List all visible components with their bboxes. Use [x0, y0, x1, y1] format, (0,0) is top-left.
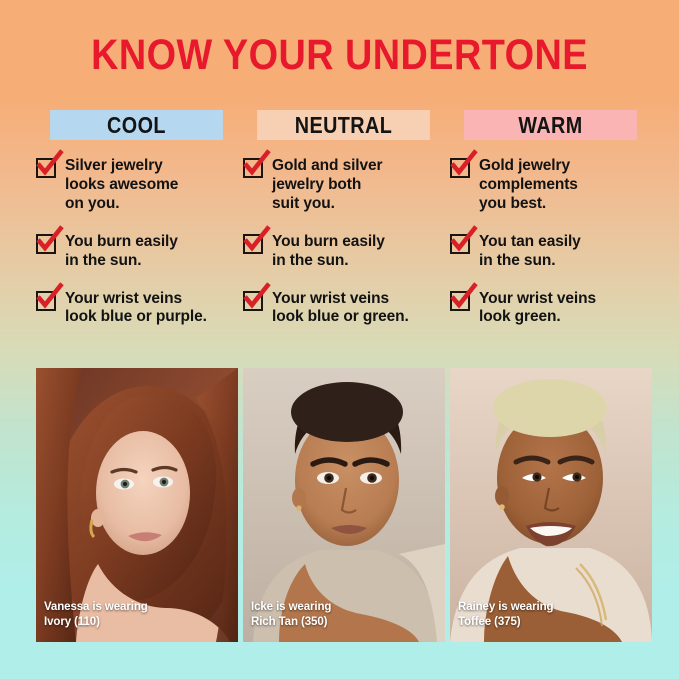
- undertone-infographic: KNOW YOUR UNDERTONE COOL Silver jewelry …: [0, 0, 679, 679]
- checklist-item-label: You tan easily in the sun.: [479, 233, 581, 271]
- checklist-item-label: Your wrist veins look blue or purple.: [65, 290, 207, 328]
- checkmark-icon: [36, 291, 56, 311]
- checklist-item: You burn easily in the sun.: [36, 233, 237, 271]
- checklist-item: Your wrist veins look green.: [450, 290, 651, 328]
- checklist-item: You tan easily in the sun.: [450, 233, 651, 271]
- photo-caption: Vanessa is wearing Ivory (110): [44, 600, 148, 629]
- photo-caption: Rainey is wearing Toffee (375): [458, 600, 553, 629]
- column-header-warm: WARM: [464, 110, 637, 140]
- column-header-neutral: NEUTRAL: [257, 110, 430, 140]
- checklist-item: Your wrist veins look blue or green.: [243, 290, 444, 328]
- checklist-item: Gold jewelry complements you best.: [450, 157, 651, 214]
- checklist-item-label: Gold and silver jewelry both suit you.: [272, 157, 382, 214]
- checklist-warm: Gold jewelry complements you best. You t…: [450, 157, 651, 327]
- undertone-columns: COOL Silver jewelry looks awesome on you…: [36, 110, 644, 346]
- photo-vanessa: Vanessa is wearing Ivory (110): [36, 368, 238, 642]
- checklist-item: Silver jewelry looks awesome on you.: [36, 157, 237, 214]
- checklist-item: You burn easily in the sun.: [243, 233, 444, 271]
- checklist-item-label: Gold jewelry complements you best.: [479, 157, 578, 214]
- checklist-cool: Silver jewelry looks awesome on you. You…: [36, 157, 237, 327]
- checkmark-icon: [243, 158, 263, 178]
- checklist-item-label: Your wrist veins look green.: [479, 290, 596, 328]
- photo-caption: Icke is wearing Rich Tan (350): [251, 600, 331, 629]
- checkmark-icon: [36, 234, 56, 254]
- checkmark-icon: [36, 158, 56, 178]
- checkmark-icon: [450, 234, 470, 254]
- column-warm: WARM Gold jewelry complements you best. …: [450, 110, 651, 346]
- checklist-item-label: Silver jewelry looks awesome on you.: [65, 157, 178, 214]
- photo-icke: Icke is wearing Rich Tan (350): [243, 368, 445, 642]
- checklist-item-label: You burn easily in the sun.: [272, 233, 385, 271]
- model-photos: Vanessa is wearing Ivory (110): [36, 368, 644, 642]
- checkmark-icon: [450, 158, 470, 178]
- column-cool: COOL Silver jewelry looks awesome on you…: [36, 110, 237, 346]
- checkmark-icon: [450, 291, 470, 311]
- photo-rainey: Rainey is wearing Toffee (375): [450, 368, 652, 642]
- checklist-neutral: Gold and silver jewelry both suit you. Y…: [243, 157, 444, 327]
- checklist-item-label: You burn easily in the sun.: [65, 233, 178, 271]
- checklist-item: Your wrist veins look blue or purple.: [36, 290, 237, 328]
- page-title: KNOW YOUR UNDERTONE: [41, 34, 639, 77]
- column-neutral: NEUTRAL Gold and silver jewelry both sui…: [243, 110, 444, 346]
- checkmark-icon: [243, 291, 263, 311]
- column-header-cool: COOL: [50, 110, 223, 140]
- checklist-item-label: Your wrist veins look blue or green.: [272, 290, 409, 328]
- checkmark-icon: [243, 234, 263, 254]
- checklist-item: Gold and silver jewelry both suit you.: [243, 157, 444, 214]
